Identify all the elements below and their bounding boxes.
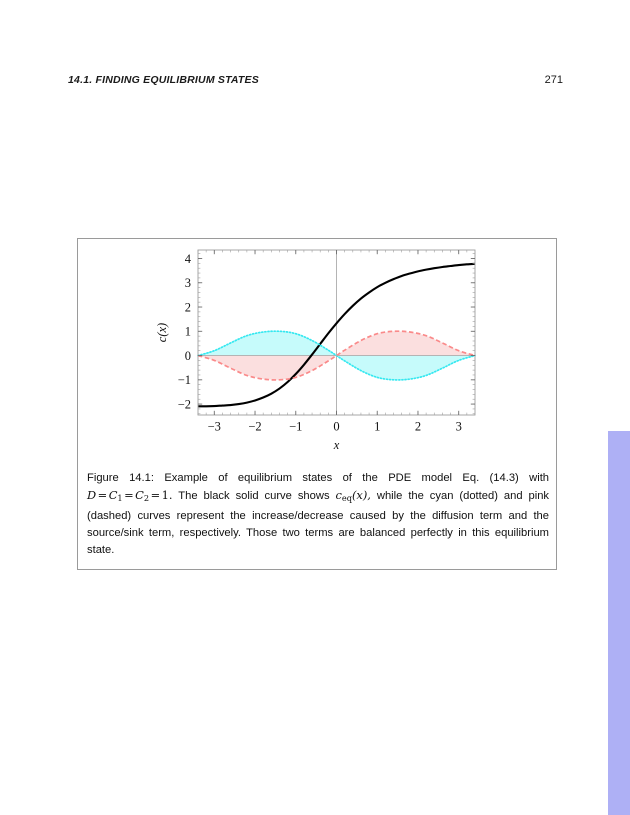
equilibrium-states-plot: −3−2−10123−2−101234xc(x) [78, 239, 558, 457]
figure-plot-area: −3−2−10123−2−101234xc(x) [78, 239, 558, 457]
x-tick-label: 0 [333, 420, 339, 434]
caption-math-ceq-argument: (x), [352, 488, 371, 502]
figure-caption: Figure 14.1: Example of equilibrium stat… [87, 470, 549, 559]
caption-math-ceq-subscript: eq [342, 493, 352, 503]
y-tick-label: 1 [185, 325, 191, 339]
caption-math-C2: C [135, 488, 144, 502]
y-tick-label: 0 [185, 349, 191, 363]
caption-math-value-one: 1. [162, 488, 173, 502]
caption-label: Figure 14.1: [87, 472, 154, 484]
caption-math-C1-subscript: 1 [117, 493, 122, 503]
x-tick-label: 2 [415, 420, 421, 434]
y-tick-label: 4 [185, 252, 192, 266]
caption-math-D: D [87, 488, 96, 502]
caption-equals-2: = [123, 488, 136, 502]
caption-text-part1: Example of equilibrium states of the PDE… [164, 472, 549, 484]
figure-container: −3−2−10123−2−101234xc(x) Figure 14.1: Ex… [77, 238, 557, 570]
vertical-scrollbar-thumb[interactable] [608, 431, 630, 815]
y-tick-label: −2 [178, 397, 191, 411]
x-tick-label: −2 [248, 420, 261, 434]
caption-text-part2: The black solid curve shows [178, 490, 329, 502]
caption-equals-3: = [149, 488, 162, 502]
y-tick-label: −1 [178, 373, 191, 387]
vertical-scrollbar-track[interactable] [608, 0, 630, 815]
caption-equals-1: = [96, 488, 109, 502]
y-tick-label: 2 [185, 300, 191, 314]
x-tick-label: −3 [208, 420, 221, 434]
page-running-header: 14.1. FINDING EQUILIBRIUM STATES 271 [68, 74, 563, 90]
page-number: 271 [545, 74, 563, 86]
x-tick-label: 3 [456, 420, 462, 434]
y-tick-label: 3 [185, 276, 191, 290]
x-tick-label: 1 [374, 420, 380, 434]
x-tick-label: −1 [289, 420, 302, 434]
y-axis-label: c(x) [155, 323, 169, 342]
header-chapter-title: 14.1. FINDING EQUILIBRIUM STATES [68, 74, 259, 86]
x-axis-label: x [333, 438, 340, 452]
